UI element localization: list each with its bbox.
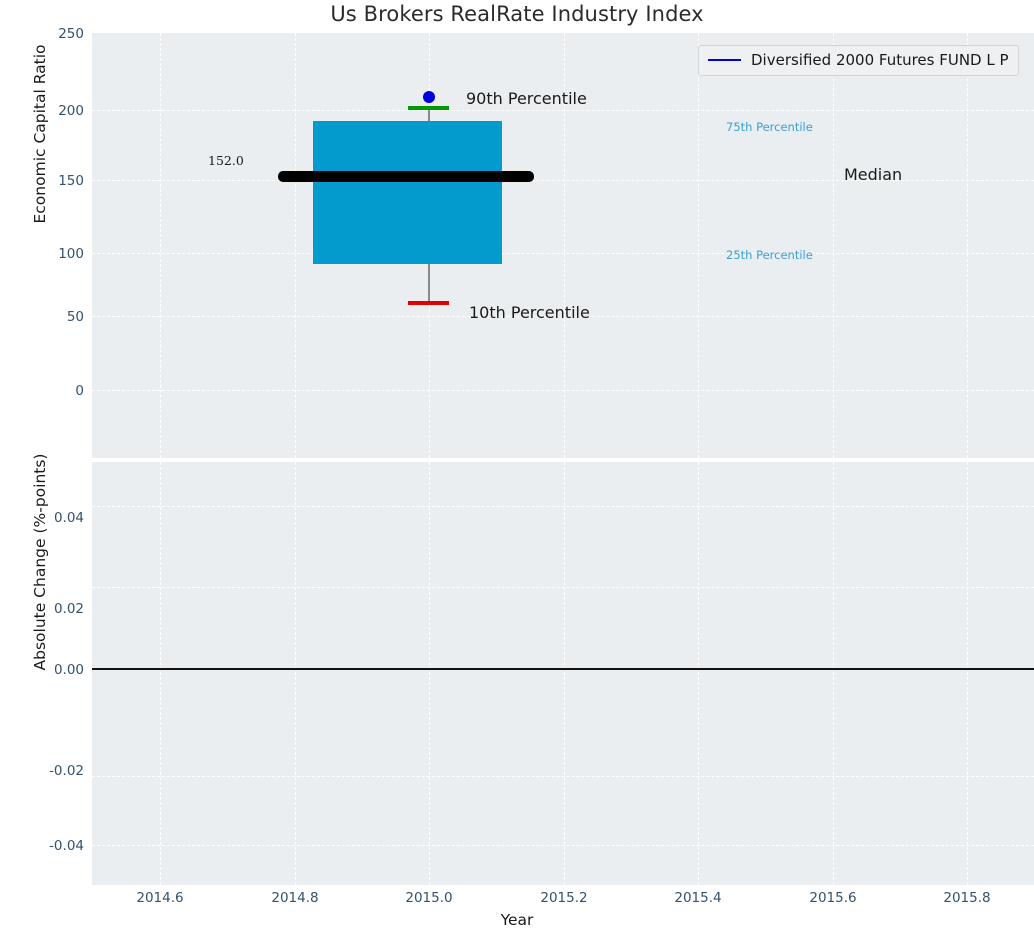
ytick-bottom--0.02: -0.02 xyxy=(0,763,84,779)
whisker-cap-90th xyxy=(408,106,449,110)
company-marker-dot xyxy=(423,91,435,103)
median-value-label: 152.0 xyxy=(208,153,244,168)
gridline-v-2014.6 xyxy=(160,33,161,458)
gridline-v-b-2014.6 xyxy=(160,462,161,885)
x-axis-title: Year xyxy=(0,911,1034,929)
chart-legend[interactable]: Diversified 2000 Futures FUND L P xyxy=(698,45,1019,76)
interquartile-box xyxy=(313,121,502,264)
ytick-bottom--0.04: -0.04 xyxy=(0,838,84,854)
annotation-75th-percentile: 75th Percentile xyxy=(726,120,813,134)
gridline-v-b-2015.6 xyxy=(833,462,834,885)
y-axis-title-top: Economic Capital Ratio xyxy=(31,14,49,254)
y-axis-title-bottom: Absolute Change (%-points) xyxy=(31,442,49,682)
annotation-90th-percentile: 90th Percentile xyxy=(466,89,587,108)
gridline-h--0.02 xyxy=(92,776,1034,777)
gridline-v-b-2014.8 xyxy=(295,462,296,885)
gridline-h-0 xyxy=(92,390,1034,391)
zero-reference-line xyxy=(92,668,1034,670)
gridline-v-b-2015.0 xyxy=(429,462,430,885)
gridline-h-0.04 xyxy=(92,506,1034,507)
gridline-v-b-2015.2 xyxy=(564,462,565,885)
median-line xyxy=(278,171,534,182)
gridline-v-2015.6 xyxy=(833,33,834,458)
gridline-v-b-2015.8 xyxy=(967,462,968,885)
xtick-2014.6: 2014.6 xyxy=(136,890,183,906)
gridline-h-0.02 xyxy=(92,587,1034,588)
gridline-h--0.04 xyxy=(92,845,1034,846)
xtick-2015.0: 2015.0 xyxy=(405,890,452,906)
ytick-top-50: 50 xyxy=(0,309,84,325)
gridline-v-2014.8 xyxy=(295,33,296,458)
annotation-25th-percentile: 25th Percentile xyxy=(726,248,813,262)
gridline-v-b-2015.4 xyxy=(698,462,699,885)
ytick-top-0: 0 xyxy=(0,383,84,399)
annotation-10th-percentile: 10th Percentile xyxy=(469,303,590,322)
gridline-h-200 xyxy=(92,110,1034,111)
legend-line-swatch xyxy=(708,59,741,61)
legend-label-diversified-2000-futures-fund-l-p: Diversified 2000 Futures FUND L P xyxy=(751,51,1009,69)
top-plot-panel: 152.0 90th Percentile 10th Percentile Me… xyxy=(92,33,1034,458)
xtick-2015.2: 2015.2 xyxy=(540,890,587,906)
chart-title: Us Brokers RealRate Industry Index xyxy=(0,2,1034,26)
xtick-2014.8: 2014.8 xyxy=(271,890,318,906)
gridline-h-100 xyxy=(92,253,1034,254)
whisker-cap-10th xyxy=(408,301,449,305)
annotation-median: Median xyxy=(844,165,902,184)
xtick-2015.8: 2015.8 xyxy=(943,890,990,906)
chart-canvas: Us Brokers RealRate Industry Index 152.0… xyxy=(0,0,1034,942)
bottom-plot-panel xyxy=(92,462,1034,885)
gridline-v-2015.8 xyxy=(967,33,968,458)
xtick-2015.6: 2015.6 xyxy=(809,890,856,906)
xtick-2015.4: 2015.4 xyxy=(674,890,721,906)
gridline-v-2015.4 xyxy=(698,33,699,458)
